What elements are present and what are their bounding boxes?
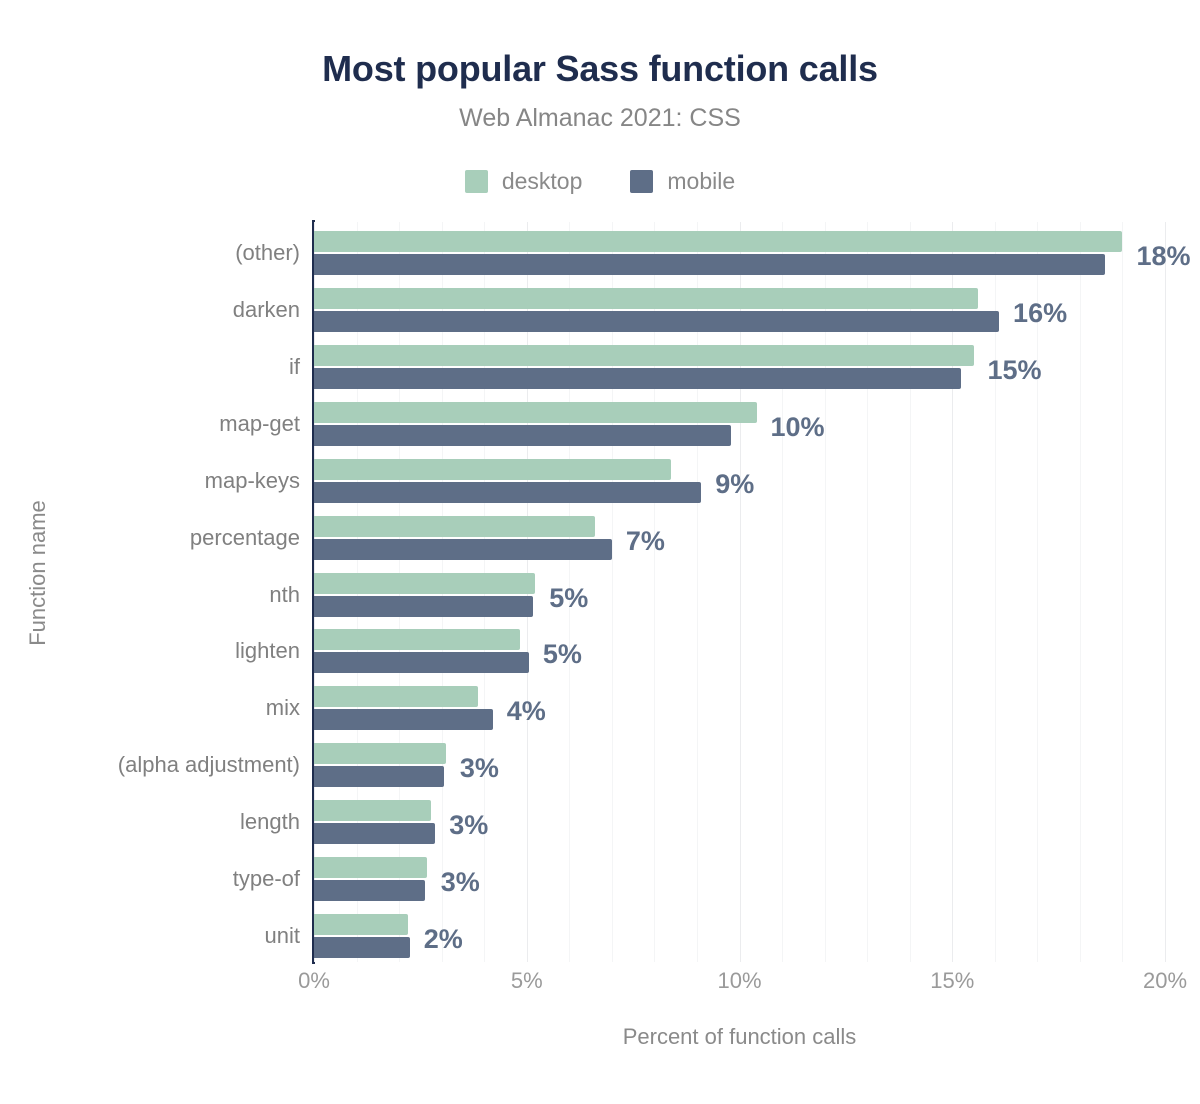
bar-mobile[interactable] xyxy=(314,823,435,844)
page-title: Most popular Sass function calls xyxy=(0,48,1200,90)
bar-mobile[interactable] xyxy=(314,596,533,617)
chart-subtitle: Web Almanac 2021: CSS xyxy=(0,104,1200,133)
bar-desktop[interactable] xyxy=(314,231,1122,252)
bar-group: 3% xyxy=(314,857,1165,901)
bar-value-label: 7% xyxy=(626,528,665,555)
bar-group: 10% xyxy=(314,402,1165,446)
bar-group: 2% xyxy=(314,914,1165,958)
legend-swatch-desktop-icon xyxy=(465,170,488,193)
bar-desktop[interactable] xyxy=(314,573,535,594)
y-axis-label: percentage xyxy=(10,525,300,551)
bar-value-label: 9% xyxy=(715,471,754,498)
bar-desktop[interactable] xyxy=(314,857,427,878)
chart-legend: desktopmobile xyxy=(0,168,1200,195)
legend-item-mobile[interactable]: mobile xyxy=(630,168,735,195)
plot-area: 18%16%15%10%9%7%5%5%4%3%3%3%2% xyxy=(314,222,1165,962)
bar-mobile[interactable] xyxy=(314,368,961,389)
y-axis-label: if xyxy=(10,354,300,380)
bar-mobile[interactable] xyxy=(314,539,612,560)
x-axis-tick-label: 0% xyxy=(298,968,330,994)
y-axis-label: nth xyxy=(10,582,300,608)
bar-group: 16% xyxy=(314,288,1165,332)
y-axis-label: map-keys xyxy=(10,468,300,494)
y-axis-label: type-of xyxy=(10,866,300,892)
legend-swatch-mobile-icon xyxy=(630,170,653,193)
bar-value-label: 3% xyxy=(441,869,480,896)
y-axis-label: (alpha adjustment) xyxy=(10,752,300,778)
bar-value-label: 3% xyxy=(460,755,499,782)
x-axis-title: Percent of function calls xyxy=(314,1024,1165,1050)
bar-desktop[interactable] xyxy=(314,629,520,650)
bar-group: 7% xyxy=(314,516,1165,560)
bar-desktop[interactable] xyxy=(314,914,408,935)
x-axis-tick-label: 15% xyxy=(930,968,974,994)
bar-mobile[interactable] xyxy=(314,311,999,332)
bar-mobile[interactable] xyxy=(314,425,731,446)
y-axis-label: map-get xyxy=(10,411,300,437)
bar-group: 18% xyxy=(314,231,1165,275)
bar-value-label: 16% xyxy=(1013,300,1067,327)
bar-desktop[interactable] xyxy=(314,288,978,309)
bar-desktop[interactable] xyxy=(314,516,595,537)
bar-desktop[interactable] xyxy=(314,743,446,764)
y-axis-label: darken xyxy=(10,297,300,323)
bar-value-label: 2% xyxy=(424,926,463,953)
y-axis-label: (other) xyxy=(10,240,300,266)
bar-mobile[interactable] xyxy=(314,652,529,673)
bar-desktop[interactable] xyxy=(314,800,431,821)
bar-value-label: 4% xyxy=(507,698,546,725)
bar-group: 5% xyxy=(314,573,1165,617)
legend-item-desktop[interactable]: desktop xyxy=(465,168,583,195)
bar-group: 3% xyxy=(314,743,1165,787)
x-axis-tick-label: 5% xyxy=(511,968,543,994)
bar-group: 5% xyxy=(314,629,1165,673)
x-axis-tick-labels: 0%5%10%15%20% xyxy=(314,968,1165,1004)
y-axis-label: lighten xyxy=(10,638,300,664)
bar-desktop[interactable] xyxy=(314,402,757,423)
legend-label: desktop xyxy=(502,168,583,195)
gridline xyxy=(1165,222,1166,962)
bar-mobile[interactable] xyxy=(314,880,425,901)
bar-group: 9% xyxy=(314,459,1165,503)
bar-group: 4% xyxy=(314,686,1165,730)
bar-mobile[interactable] xyxy=(314,766,444,787)
bar-desktop[interactable] xyxy=(314,686,478,707)
bar-desktop[interactable] xyxy=(314,345,974,366)
bar-desktop[interactable] xyxy=(314,459,671,480)
bar-mobile[interactable] xyxy=(314,937,410,958)
x-axis-tick-label: 10% xyxy=(717,968,761,994)
bar-value-label: 18% xyxy=(1136,243,1190,270)
y-axis-label: unit xyxy=(10,923,300,949)
bar-value-label: 10% xyxy=(771,414,825,441)
bar-value-label: 15% xyxy=(988,357,1042,384)
bar-value-label: 3% xyxy=(449,812,488,839)
y-axis-label: length xyxy=(10,809,300,835)
legend-label: mobile xyxy=(667,168,735,195)
x-axis-tick-label: 20% xyxy=(1143,968,1187,994)
chart-figure: Most popular Sass function calls Web Alm… xyxy=(0,0,1200,1104)
bar-mobile[interactable] xyxy=(314,709,493,730)
bar-mobile[interactable] xyxy=(314,482,701,503)
bar-group: 3% xyxy=(314,800,1165,844)
bar-value-label: 5% xyxy=(543,641,582,668)
bar-value-label: 5% xyxy=(549,585,588,612)
bar-group: 15% xyxy=(314,345,1165,389)
bar-mobile[interactable] xyxy=(314,254,1105,275)
y-axis-label: mix xyxy=(10,695,300,721)
y-axis-title: Function name xyxy=(25,473,51,673)
